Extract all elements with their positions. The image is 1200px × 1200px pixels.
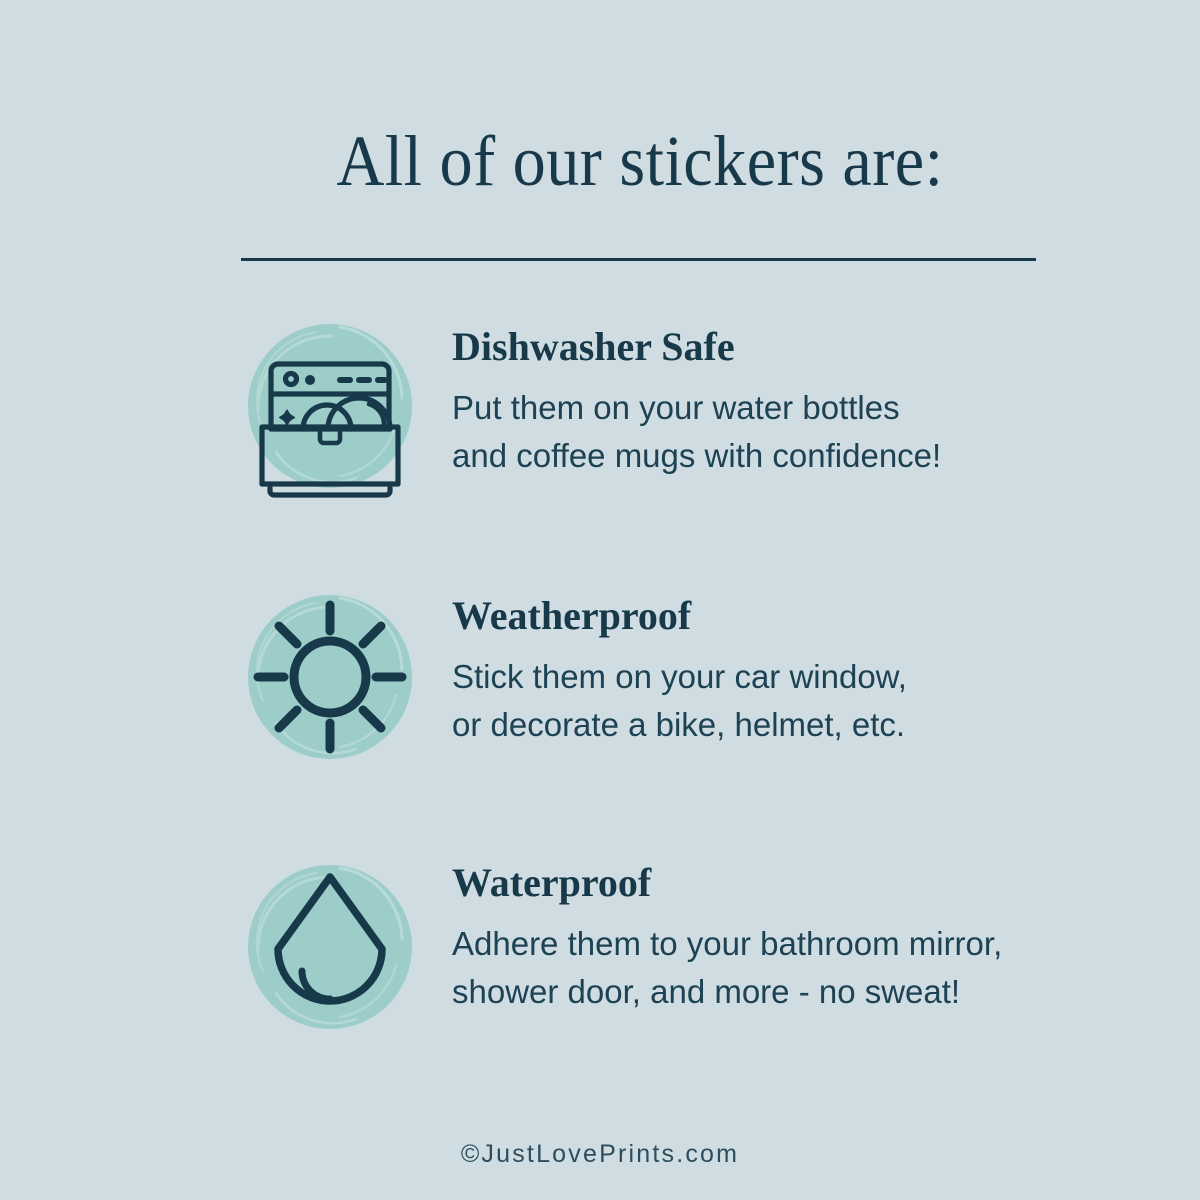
feature-body-line: Adhere them to your bathroom mirror, [452,920,1152,968]
footer: ©JustLovePrints.com [0,1140,1200,1169]
feature-body: Put them on your water bottles and coffe… [452,384,1152,480]
dishwasher-icon [236,312,424,500]
feature-body-line: Stick them on your car window, [452,653,1152,701]
title-divider [241,258,1036,261]
title-container: All of our stickers are: [240,125,1040,198]
page-title: All of our stickers are: [272,125,1008,198]
feature-heading: Waterproof [452,862,1152,904]
dishwasher-icon-badge [236,312,424,500]
feature-item-dishwasher: Dishwasher Safe Put them on your water b… [236,312,1166,512]
copyright-credit: ©JustLovePrints.com [461,1140,739,1168]
feature-body-line: shower door, and more - no sweat! [452,968,1152,1016]
sun-icon-badge [236,583,424,771]
feature-text-weatherproof: Weatherproof Stick them on your car wind… [452,595,1152,749]
feature-text-dishwasher: Dishwasher Safe Put them on your water b… [452,326,1152,480]
feature-body: Adhere them to your bathroom mirror, sho… [452,920,1152,1016]
feature-item-waterproof: Waterproof Adhere them to your bathroom … [236,853,1166,1053]
poster-canvas: All of our stickers are: [0,0,1200,1200]
feature-body: Stick them on your car window, or decora… [452,653,1152,749]
feature-heading: Dishwasher Safe [452,326,1152,368]
sun-icon [236,583,424,771]
feature-text-waterproof: Waterproof Adhere them to your bathroom … [452,862,1152,1016]
feature-body-line: or decorate a bike, helmet, etc. [452,701,1152,749]
feature-body-line: Put them on your water bottles [452,384,1152,432]
feature-heading: Weatherproof [452,595,1152,637]
water-drop-icon-badge [236,853,424,1041]
feature-body-line: and coffee mugs with confidence! [452,432,1152,480]
water-drop-icon [236,853,424,1041]
feature-item-weatherproof: Weatherproof Stick them on your car wind… [236,583,1166,783]
